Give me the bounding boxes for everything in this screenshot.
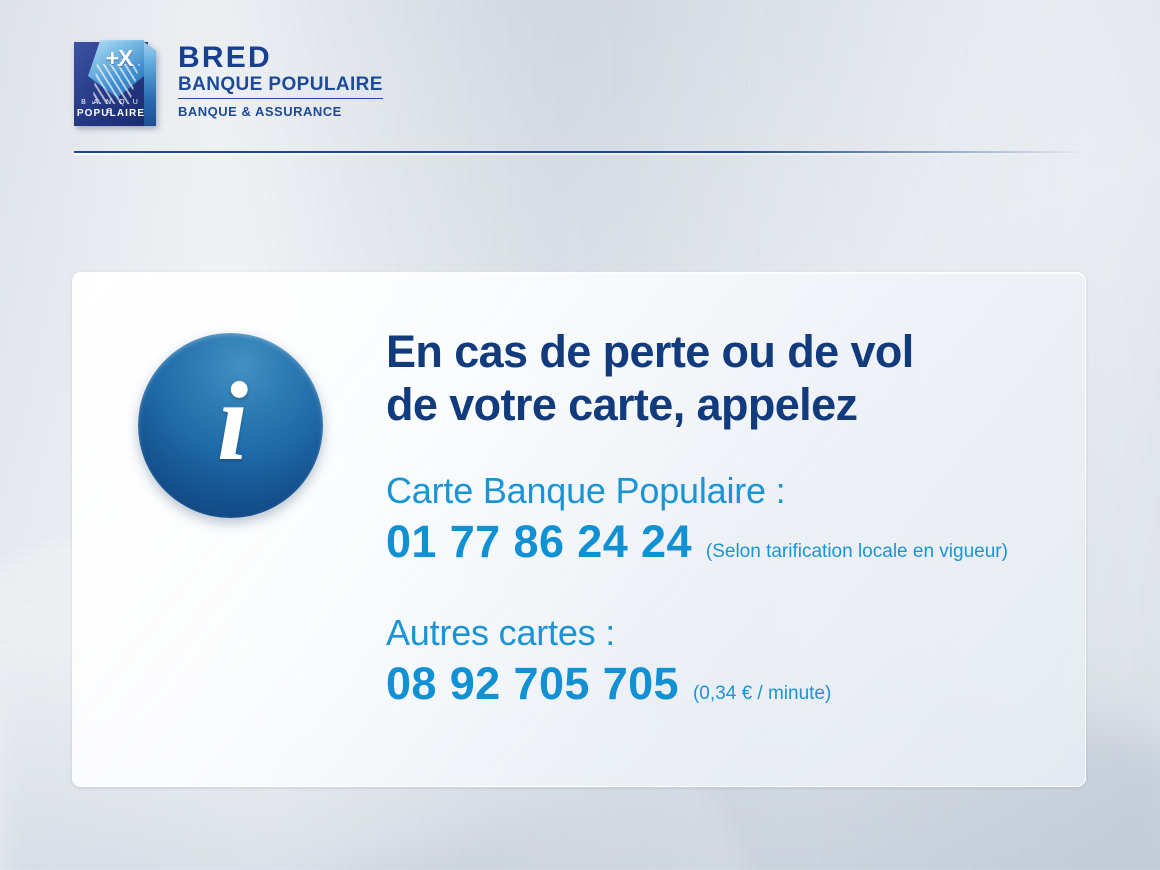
contact-block-banque-populaire: Carte Banque Populaire : 01 77 86 24 24 …: [386, 469, 1061, 569]
contact-number-row: 01 77 86 24 24 (Selon tarification local…: [386, 515, 1061, 569]
information-icon: i: [138, 333, 323, 518]
logo-populaire-text: POPULAIRE: [76, 108, 146, 120]
contact-number-row: 08 92 705 705 (0,34 € / minute): [386, 657, 1061, 711]
brand-lockup: +X B A N Q U E POPULAIRE BRED BANQUE POP…: [74, 38, 383, 130]
card-headline: En cas de perte ou de vol de votre carte…: [386, 325, 1061, 431]
contact-block-autres-cartes: Autres cartes : 08 92 705 705 (0,34 € / …: [386, 611, 1061, 711]
contact-label: Carte Banque Populaire :: [386, 469, 1061, 513]
contact-label: Autres cartes :: [386, 611, 1061, 655]
brand-name: BRED: [178, 42, 383, 74]
header-divider-highlight: [74, 153, 1086, 155]
brand-subtitle: BANQUE POPULAIRE: [178, 74, 383, 99]
contact-phone-number[interactable]: 01 77 86 24 24: [386, 515, 692, 569]
contact-tariff-note: (Selon tarification locale en vigueur): [706, 540, 1008, 564]
card-headline-line-2: de votre carte, appelez: [386, 378, 1061, 431]
information-icon-glyph: i: [217, 366, 248, 478]
bred-logo-icon: +X B A N Q U E POPULAIRE: [74, 38, 156, 130]
contact-phone-number[interactable]: 08 92 705 705: [386, 657, 679, 711]
contact-tariff-note: (0,34 € / minute): [693, 682, 831, 706]
card-copy: En cas de perte ou de vol de votre carte…: [386, 325, 1061, 711]
brand-wordmark: BRED BANQUE POPULAIRE BANQUE & ASSURANCE: [178, 38, 383, 120]
logo-plus-x-symbol: +X: [94, 44, 144, 72]
content-card: i En cas de perte ou de vol de votre car…: [72, 272, 1086, 787]
brand-tagline: BANQUE & ASSURANCE: [178, 103, 383, 120]
page-root: +X B A N Q U E POPULAIRE BRED BANQUE POP…: [0, 0, 1160, 870]
card-headline-line-1: En cas de perte ou de vol: [386, 325, 1061, 378]
page-header: +X B A N Q U E POPULAIRE BRED BANQUE POP…: [0, 0, 1160, 170]
